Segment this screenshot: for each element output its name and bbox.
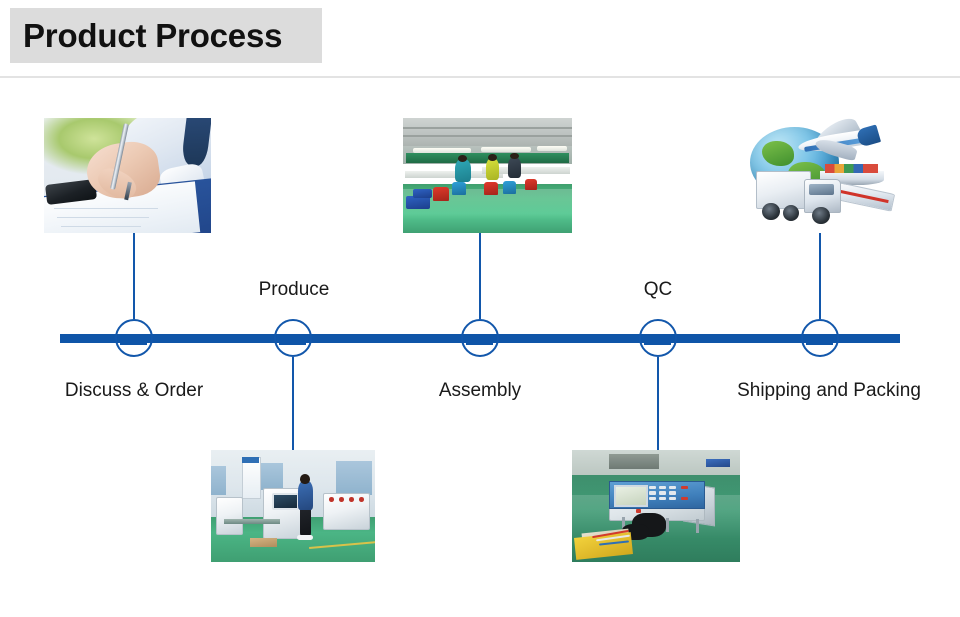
node-bar-overlap [279,336,306,345]
truck-windshield [809,184,835,196]
connector-line-qc [657,357,659,450]
instrument-screen [614,485,648,507]
photo-stool [503,181,517,194]
photo-worker-head [300,474,310,484]
product-process-slide: Product Process [0,0,960,617]
photo-wall-panel [336,461,372,495]
instrument-key [669,491,676,494]
node-bar-overlap [466,336,493,345]
photo-stool [525,179,537,191]
instrument-key [659,497,666,500]
step-image-assembly [403,118,572,233]
photo-crate [413,189,432,198]
page-title-box: Product Process [10,8,322,63]
instrument-key [669,497,676,500]
photo-stool [484,182,498,195]
timeline-label-discuss-order: Discuss & Order [65,381,203,400]
step-image-qc [572,450,740,562]
photo-ceiling-beam [403,135,572,137]
instrument-key [669,486,676,489]
photo-paper-line [57,217,149,218]
photo-crate [406,196,430,209]
instrument-key [659,486,666,489]
page-title: Product Process [10,19,282,52]
node-bar-overlap [806,336,833,345]
instrument-leg [666,518,669,531]
timeline-label-qc: QC [644,280,673,299]
timeline-node-produce[interactable] [274,319,312,357]
photo-worker [508,157,522,178]
instrument-leg [696,519,699,532]
photo-worker-legs [300,507,311,536]
step-image-discuss-order [44,118,211,233]
photo-worker-head [510,153,518,159]
photo-machine [216,497,243,535]
instrument-key [649,497,656,500]
photo-carton [250,538,276,547]
truck-wheel [812,207,830,224]
photo-cart [224,519,280,523]
photo-poster-header [242,457,258,464]
connector-line-produce [292,357,294,450]
photo-machine-knob [359,497,364,501]
instrument-red-button [636,509,641,512]
photo-wall-panel [211,466,226,495]
instrument-red-button [681,497,688,500]
instrument-red-button [681,486,688,489]
photo-machine-screen [272,493,299,510]
timeline-label-produce: Produce [259,280,330,299]
photo-bench-lamp [481,147,532,152]
photo-worker-head [488,154,496,161]
instrument-key [649,486,656,489]
photo-machine-knob [329,497,334,501]
timeline-label-assembly: Assembly [439,381,521,400]
instrument-key [649,491,656,494]
node-bar-overlap [644,336,671,345]
connector-line-discuss-order [133,233,135,319]
timeline-label-shipping-packing: Shipping and Packing [737,381,921,400]
photo-bench-lamp [413,148,470,153]
photo-worker-head [458,155,467,162]
ship-containers [825,164,878,173]
photo-bench-lamp [537,146,567,151]
photo-paper-line [54,208,158,209]
photo-ceiling-beam [403,127,572,129]
photo-stool [433,187,448,201]
step-image-produce [211,450,375,562]
photo-ceiling [403,118,572,148]
photo-stool [452,182,466,195]
photo-machine-knob [339,497,344,501]
connector-line-shipping-packing [819,233,821,319]
photo-back-bench [609,454,659,469]
photo-wall-panel [260,463,283,490]
timeline-node-assembly[interactable] [461,319,499,357]
step-image-shipping-packing [740,118,900,233]
timeline-node-qc[interactable] [639,319,677,357]
header-divider [0,76,960,78]
instrument-key [659,491,666,494]
photo-blue-bin [706,459,730,467]
connector-line-assembly [479,233,481,319]
timeline-node-discuss-order[interactable] [115,319,153,357]
photo-worker [486,158,500,180]
timeline-node-shipping-packing[interactable] [801,319,839,357]
truck-trailer [756,171,811,209]
node-bar-overlap [120,336,147,345]
photo-worker [455,159,470,182]
photo-worker-shoe [297,535,313,539]
photo-machine-knob [349,497,354,501]
photo-paper-line [61,226,141,227]
photo-worker-body [298,481,313,510]
